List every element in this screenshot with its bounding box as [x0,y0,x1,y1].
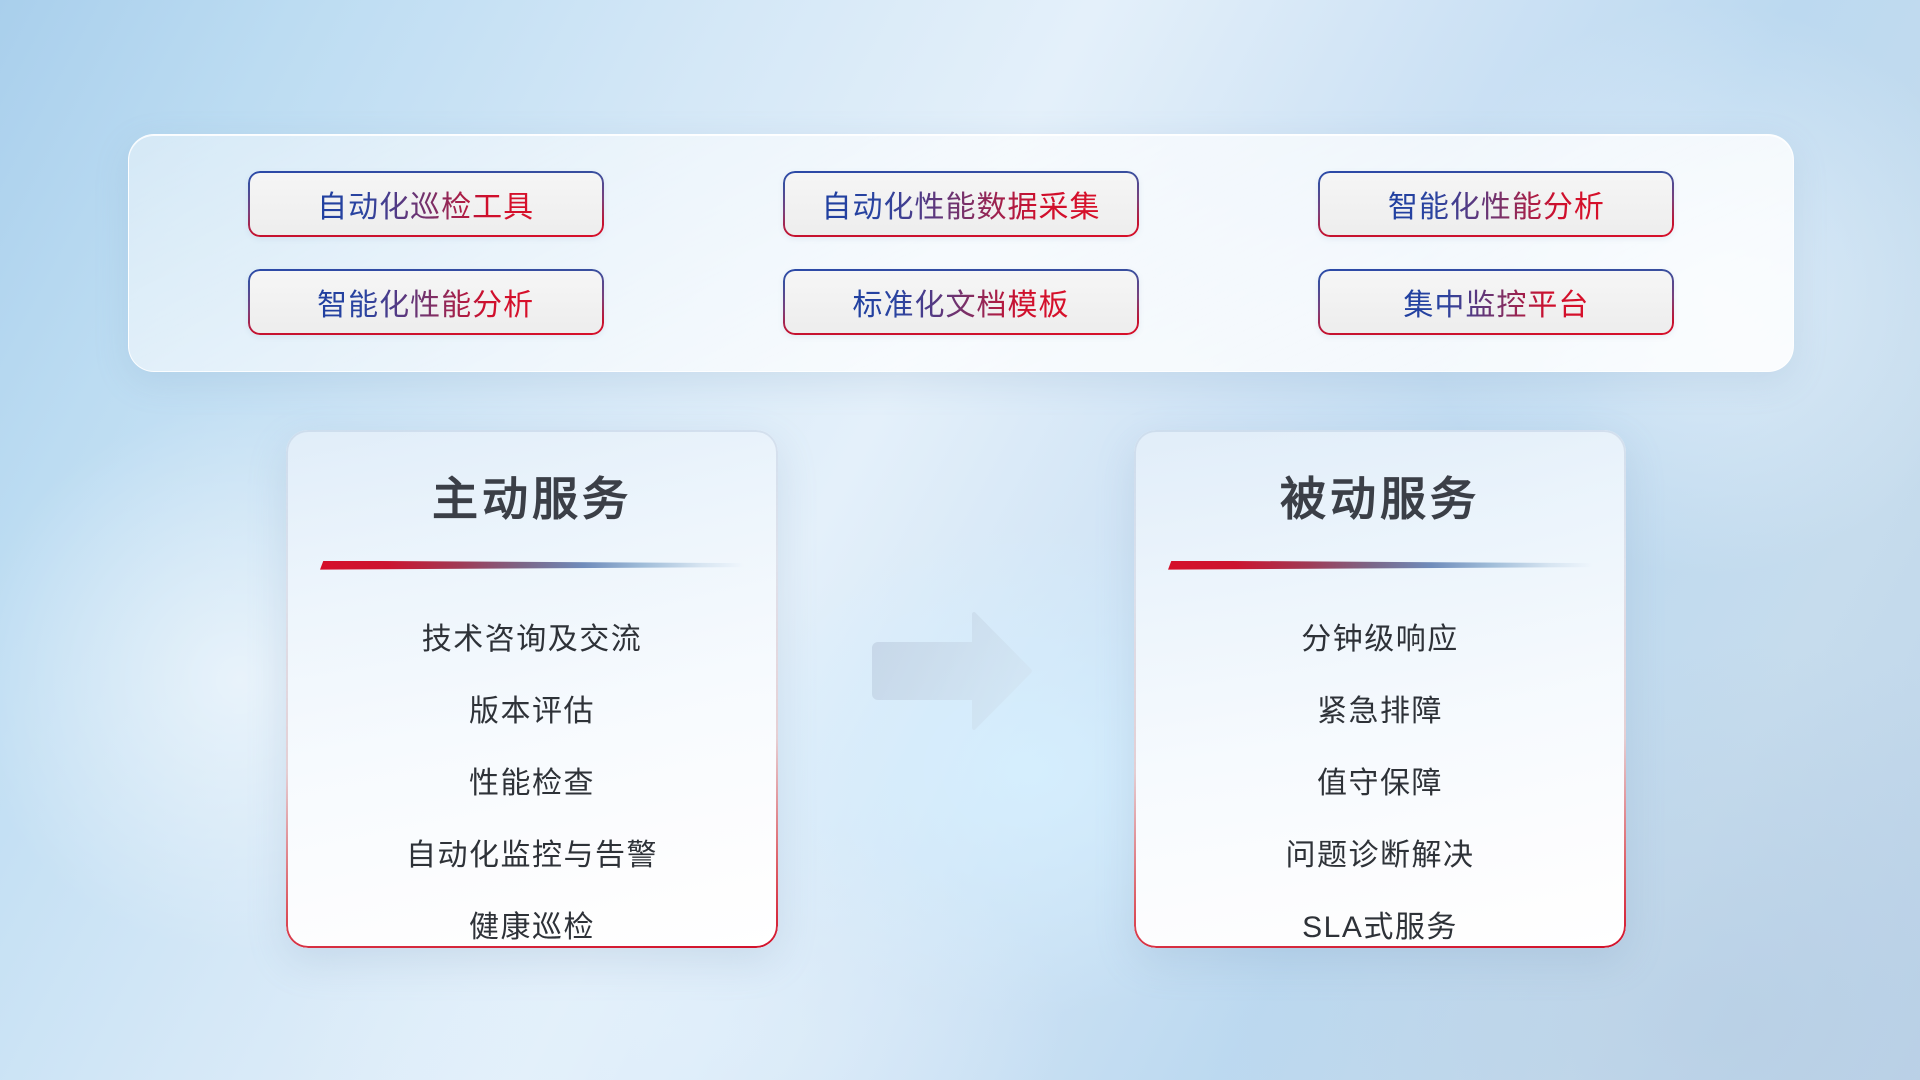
service-item: SLA式服务 [1168,892,1592,948]
capability-chip-1[interactable]: 自动化巡检工具 [248,171,604,237]
service-item: 健康巡检 [320,892,744,948]
service-item: 版本评估 [320,676,744,748]
capability-chip-4[interactable]: 智能化性能分析 [248,269,604,335]
service-card-title: 主动服务 [320,474,744,525]
service-item-list: 技术咨询及交流 版本评估 性能检查 自动化监控与告警 健康巡检 [320,604,744,948]
service-card-active: 主动服务 技术咨询及交流 版本评估 性能检查 自动化监控与告警 健康巡检 [286,430,778,948]
card-divider-gradient [1168,561,1592,570]
service-item-list: 分钟级响应 紧急排障 值守保障 问题诊断解决 SLA式服务 [1168,604,1592,948]
capability-chip-label: 智能化性能分析 [317,280,534,324]
capability-chips-panel: 自动化巡检工具 自动化性能数据采集 智能化性能分析 智能化性能分析 标准化文档模… [128,134,1794,372]
card-divider-gradient [320,561,744,570]
capability-chip-2[interactable]: 自动化性能数据采集 [783,171,1139,237]
capability-chip-label: 集中监控平台 [1403,280,1589,324]
service-item: 技术咨询及交流 [320,604,744,676]
service-item: 紧急排障 [1168,676,1592,748]
service-item: 自动化监控与告警 [320,820,744,892]
capability-chip-label: 标准化文档模板 [852,280,1069,324]
service-item: 值守保障 [1168,748,1592,820]
capability-chip-6[interactable]: 集中监控平台 [1318,269,1674,335]
service-card-passive: 被动服务 分钟级响应 紧急排障 值守保障 问题诊断解决 SLA式服务 [1134,430,1626,948]
service-card-title: 被动服务 [1168,474,1592,525]
capability-chip-5[interactable]: 标准化文档模板 [783,269,1139,335]
service-item: 性能检查 [320,748,744,820]
capability-chip-label: 智能化性能分析 [1388,182,1605,226]
capability-chip-label: 自动化巡检工具 [317,182,534,226]
capability-chip-3[interactable]: 智能化性能分析 [1318,171,1674,237]
capability-chip-label: 自动化性能数据采集 [821,182,1100,226]
service-item: 问题诊断解决 [1168,820,1592,892]
service-item: 分钟级响应 [1168,604,1592,676]
